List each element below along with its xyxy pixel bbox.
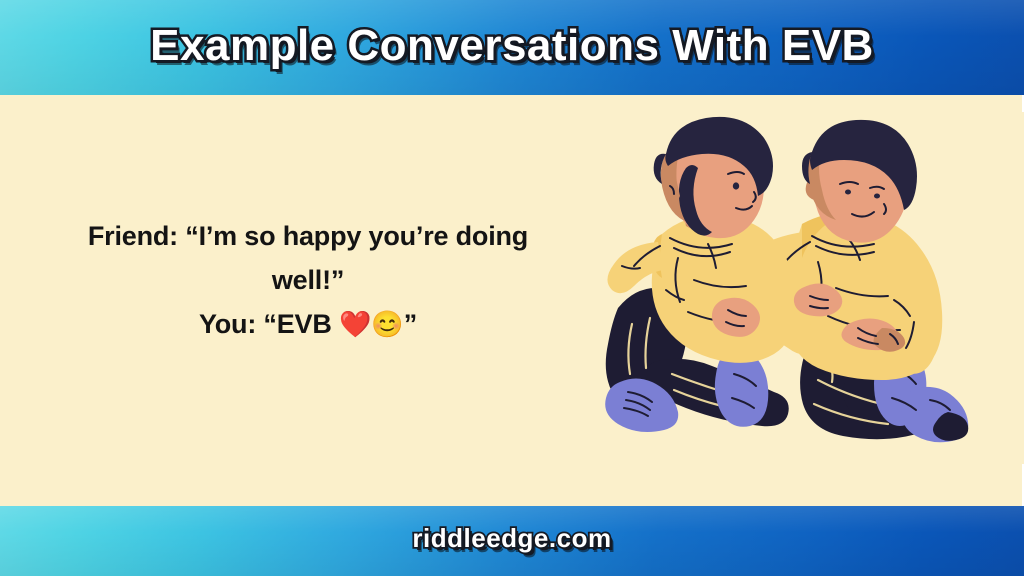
site-watermark: riddleedge.com <box>0 520 1024 556</box>
closing-quote-mark: ” <box>404 309 417 339</box>
quote-line-1: Friend: “I’m so happy you’re doing <box>18 214 598 258</box>
smiling-face-icon: 😊 <box>371 309 403 339</box>
poster-canvas: Example Conversations With EVB Friend: “… <box>0 0 1024 576</box>
heart-icon: ❤️ <box>339 309 371 339</box>
quote-line-2: well!” <box>18 258 598 302</box>
quote-line-3-text: You: “EVB <box>199 309 339 339</box>
quote-line-3: You: “EVB ❤️😊” <box>18 302 598 346</box>
page-title: Example Conversations With EVB <box>0 14 1024 78</box>
conversation-quote: Friend: “I’m so happy you’re doing well!… <box>18 214 598 346</box>
two-friends-illustration: .yel { fill:#f6d278; } .yel2 { fill:#efc… <box>596 112 1024 464</box>
